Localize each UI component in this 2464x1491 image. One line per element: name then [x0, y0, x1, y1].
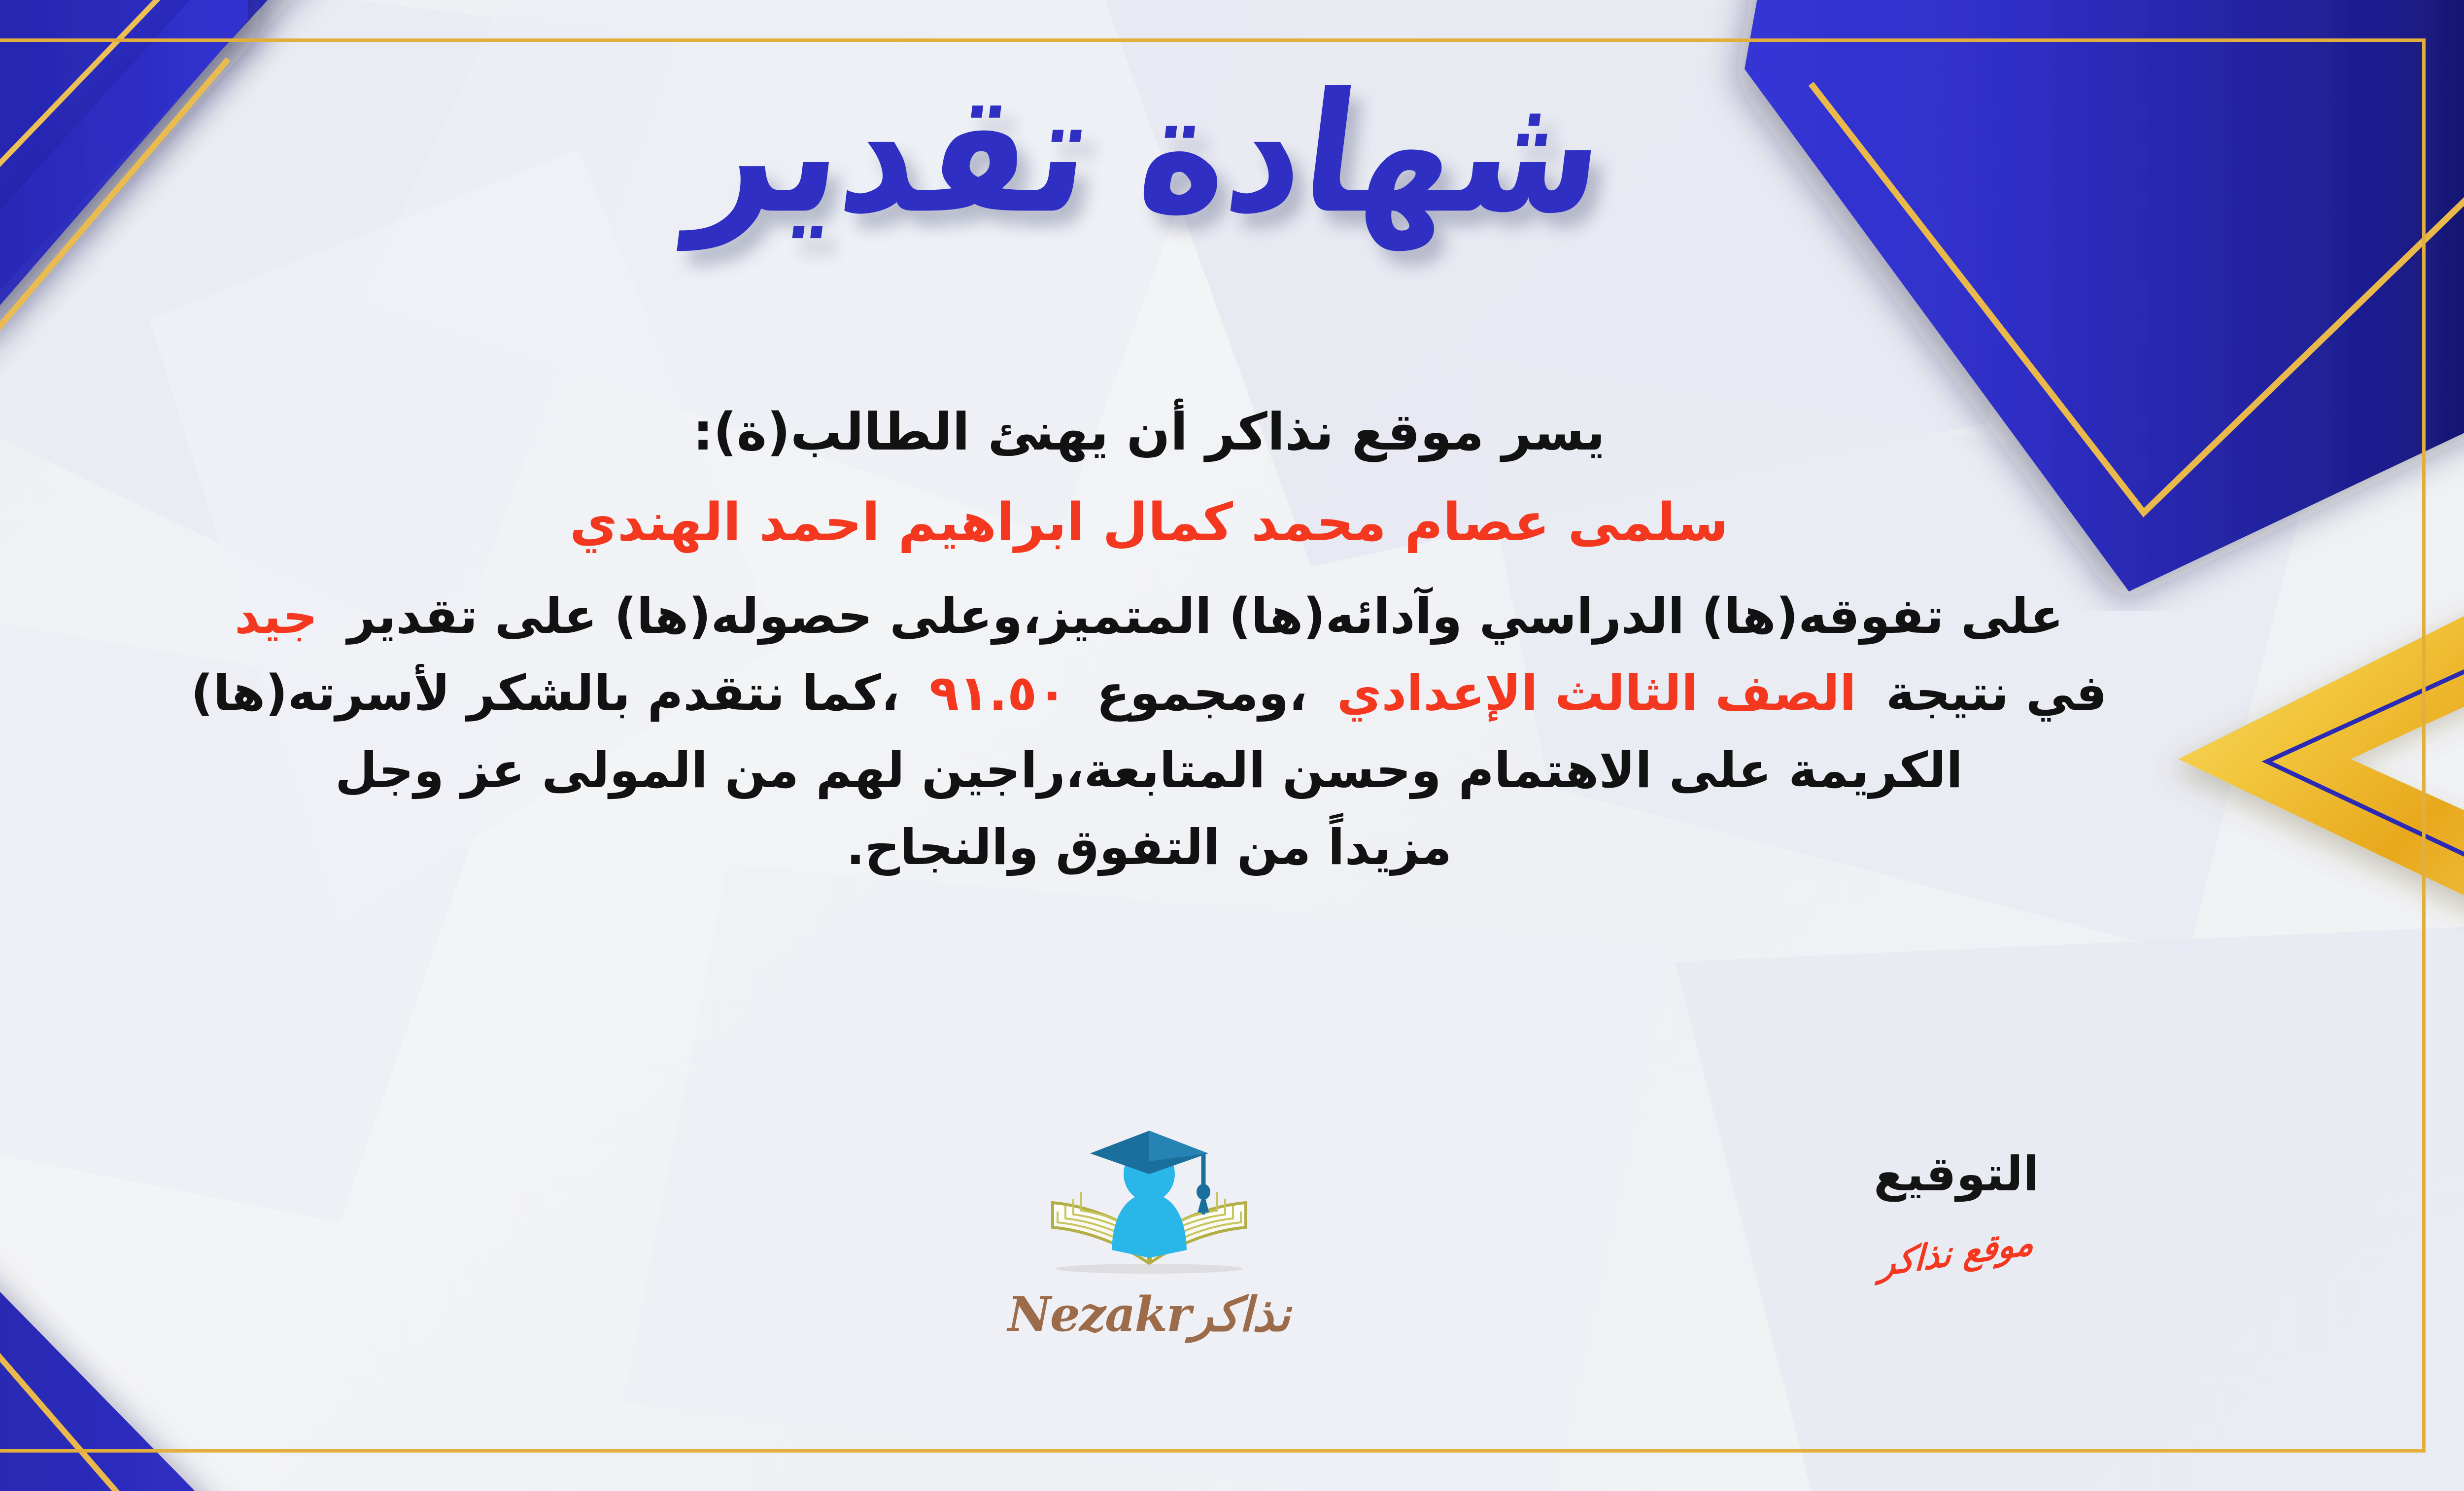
brand-logo: نذاكرNezakr: [962, 1129, 1336, 1342]
score-value: ٩١.٥٠: [929, 665, 1067, 722]
grade-value: جيد: [235, 588, 318, 645]
brand-wordmark: نذاكرNezakr: [962, 1286, 1336, 1342]
page-title: شهادة تقدير: [684, 65, 1614, 243]
result-paragraph: في نتيجةالصف الثالث الإعدادي،ومجموع٩١.٥٠…: [0, 655, 2385, 732]
signature-label: التوقيع: [1828, 1148, 2085, 1201]
thanks-text: ،كما نتقدم بالشكر لأسرته(ها): [191, 665, 899, 722]
result-label: في نتيجة: [1886, 665, 2107, 722]
family-thanks-paragraph: الكريمة على الاهتمام وحسن المتابعة،راجين…: [0, 732, 2385, 809]
signature-block: التوقيع موقع نذاكر: [1828, 1148, 2085, 1273]
signature-handwriting: موقع نذاكر: [1879, 1221, 2034, 1284]
intro-line: يسر موقع نذاكر أن يهنئ الطالب(ة):: [0, 394, 2385, 470]
brand-latin: Nezakr: [1008, 1286, 1191, 1342]
graduate-book-icon: [1021, 1129, 1277, 1291]
total-label: ،ومجموع: [1096, 665, 1307, 722]
student-name: سلمى عصام محمد كمال ابراهيم احمد الهندي: [0, 484, 2385, 561]
brand-arabic: نذاكر: [1191, 1286, 1290, 1342]
achievement-text: على تفوقه(ها) الدراسي وآدائه(ها) المتميز…: [347, 588, 2063, 645]
certificate-body: يسر موقع نذاكر أن يهنئ الطالب(ة): سلمى ع…: [0, 394, 2385, 886]
achievement-paragraph: على تفوقه(ها) الدراسي وآدائه(ها) المتميز…: [0, 578, 2385, 655]
certificate-title-wrap: شهادة تقدير: [0, 74, 2464, 234]
certificate-footer: التوقيع موقع نذاكر: [0, 1148, 2390, 1424]
closing-paragraph: مزيداً من التفوق والنجاح.: [0, 809, 2385, 886]
class-name: الصف الثالث الإعدادي: [1337, 665, 1856, 722]
certificate-page: شهادة تقدير يسر موقع نذاكر أن يهنئ الطال…: [0, 0, 2464, 1491]
